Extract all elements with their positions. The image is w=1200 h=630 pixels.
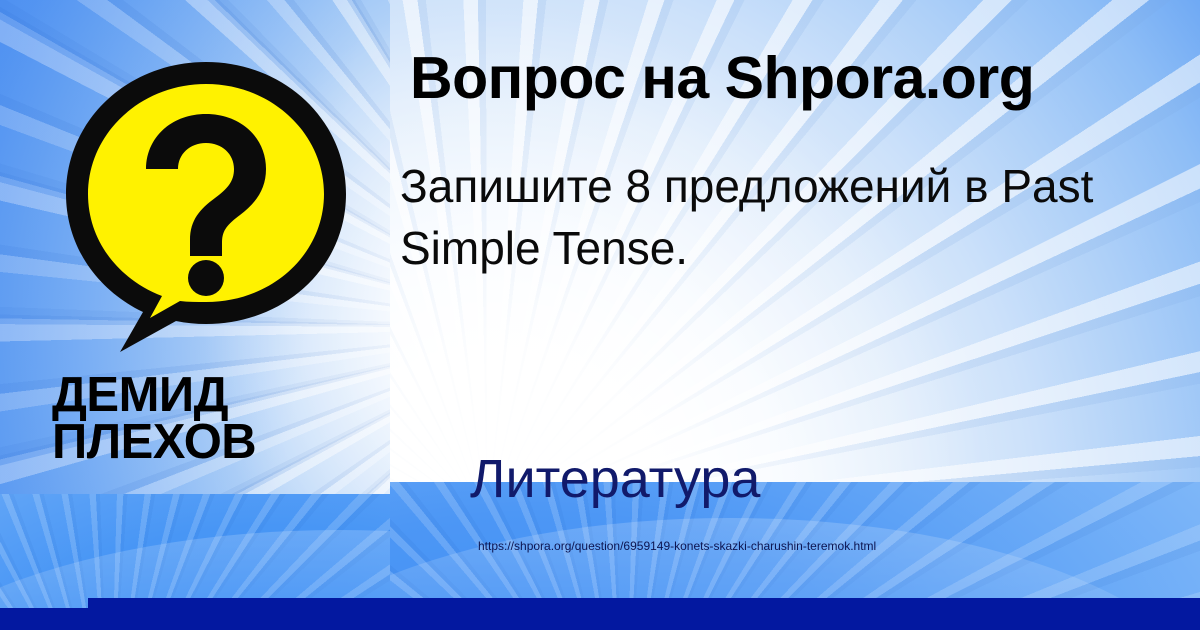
author-last-name: ПЛЕХОВ <box>52 419 392 466</box>
author-name: ДЕМИД ПЛЕХОВ <box>52 372 392 466</box>
question-text: Запишите 8 предложений в Past Simple Ten… <box>400 156 1140 279</box>
source-url[interactable]: https://shpora.org/question/6959149-kone… <box>478 540 876 552</box>
bottom-navy-bar-right <box>88 598 1200 630</box>
author-first-name: ДЕМИД <box>52 372 392 419</box>
subject-label: Литература <box>470 452 760 506</box>
page-title: Вопрос на Shpora.org <box>410 48 1170 110</box>
social-share-card: Литература Вопрос на Shpora.org Запишите… <box>0 0 1200 630</box>
question-mark-speech-bubble-icon <box>58 56 354 356</box>
